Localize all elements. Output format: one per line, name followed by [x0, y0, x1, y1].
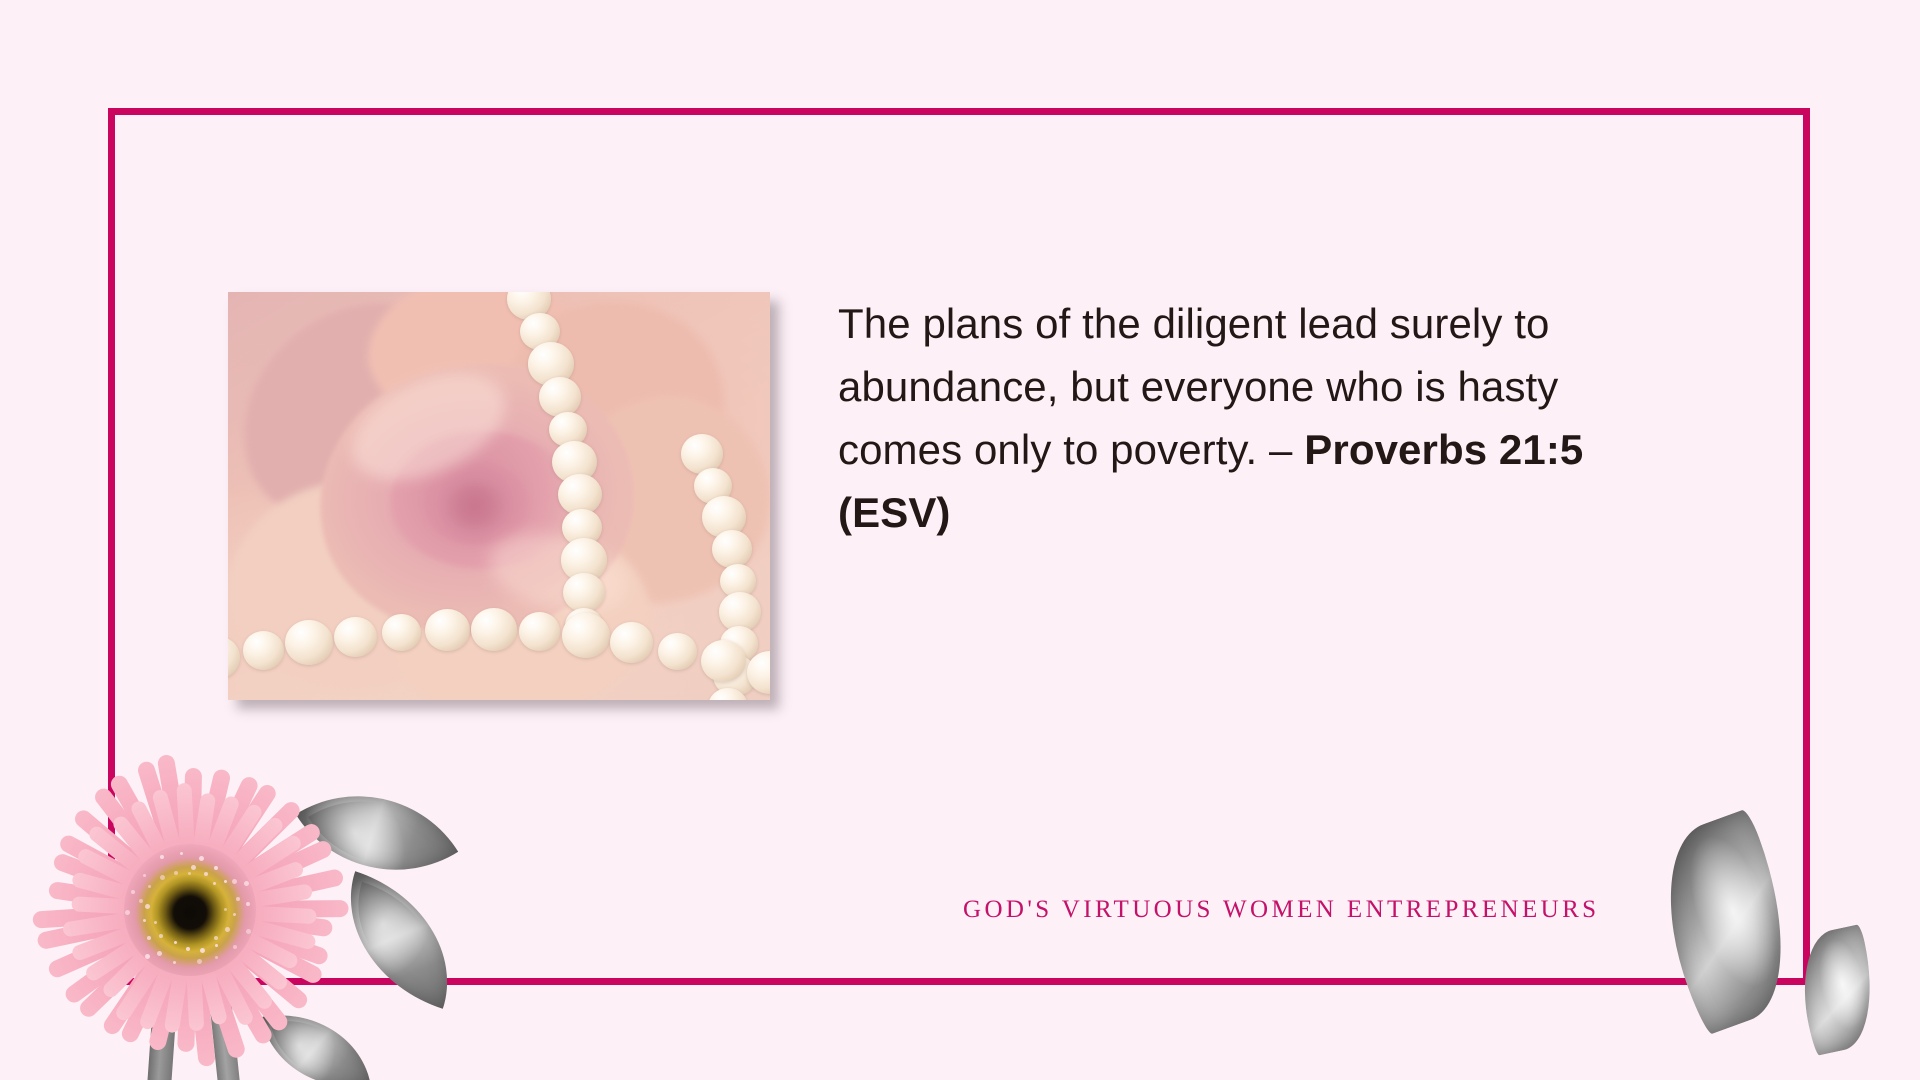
daisy-center-fleck: [225, 927, 230, 932]
watercolor-leaves-decoration: [1660, 812, 1920, 1062]
daisy-center-fleck: [233, 913, 236, 916]
daisy-center-fleck: [213, 882, 216, 885]
slide-canvas: The plans of the diligent lead surely to…: [0, 0, 1920, 1080]
leaf-icon: [1637, 808, 1816, 1036]
daisy-center-fleck: [244, 881, 249, 886]
rose-pearls-image-canvas: [228, 292, 770, 700]
daisy-center-fleck: [200, 948, 205, 953]
daisy-center-fleck: [215, 944, 218, 947]
daisy-center-fleck: [145, 904, 150, 909]
daisy-center-fleck: [224, 880, 227, 883]
daisy-center-fleck: [148, 885, 151, 888]
daisy-center-fleck: [186, 947, 190, 951]
pearl: [425, 609, 470, 651]
daisy-center: [124, 844, 256, 976]
daisy-center-fleck: [232, 879, 237, 884]
pearl: [243, 631, 284, 670]
daisy-center-fleck: [173, 961, 176, 964]
rose-pearls-image: [228, 292, 770, 700]
pearl: [382, 614, 421, 651]
daisy-center-fleck: [174, 941, 177, 944]
daisy-center-fleck: [233, 945, 237, 949]
leaf-icon: [1790, 924, 1885, 1056]
gerbera-daisy-decoration: [18, 740, 558, 1080]
daisy-center-fleck: [191, 865, 196, 870]
daisy-center-fleck: [188, 872, 191, 875]
daisy-center-fleck: [197, 959, 202, 964]
daisy-center-fleck: [157, 951, 162, 956]
daisy-center-fleck: [143, 919, 146, 922]
daisy-flower-head: [40, 760, 340, 1060]
daisy-center-fleck: [215, 956, 218, 959]
rose-bloom-center: [445, 484, 505, 529]
scripture-quote: The plans of the diligent lead surely to…: [838, 292, 1668, 544]
daisy-center-fleck: [160, 855, 164, 859]
daisy-center-fleck: [199, 856, 204, 861]
pearl: [562, 613, 610, 658]
pearl: [334, 617, 377, 657]
daisy-center-fleck: [154, 921, 157, 924]
daisy-center-fleck: [145, 954, 150, 959]
pearl: [519, 612, 560, 651]
daisy-center-fleck: [143, 874, 146, 877]
daisy-center-fleck: [160, 875, 165, 880]
daisy-center-fleck: [180, 852, 183, 855]
daisy-center-fleck: [131, 890, 135, 894]
brand-footer-text: GOD'S VIRTUOUS WOMEN ENTREPRENEURS: [963, 896, 1599, 924]
pearl: [539, 377, 581, 416]
pearl: [471, 608, 517, 651]
daisy-center-fleck: [125, 910, 130, 915]
daisy-center-fleck: [139, 899, 143, 903]
daisy-center-fleck: [204, 872, 208, 876]
daisy-center-fleck: [236, 897, 240, 901]
daisy-center-fleck: [214, 936, 218, 940]
daisy-center-fleck: [224, 908, 227, 911]
daisy-center-fleck: [174, 871, 178, 875]
daisy-center-fleck: [214, 866, 218, 870]
pearl: [610, 622, 653, 662]
daisy-center-fleck: [246, 929, 251, 934]
pearl: [712, 530, 752, 568]
daisy-center-fleck: [147, 936, 151, 940]
daisy-center-fleck: [159, 934, 163, 938]
daisy-center-fleck: [246, 902, 250, 906]
pearl: [658, 633, 697, 670]
leaf-icon: [323, 871, 475, 1009]
